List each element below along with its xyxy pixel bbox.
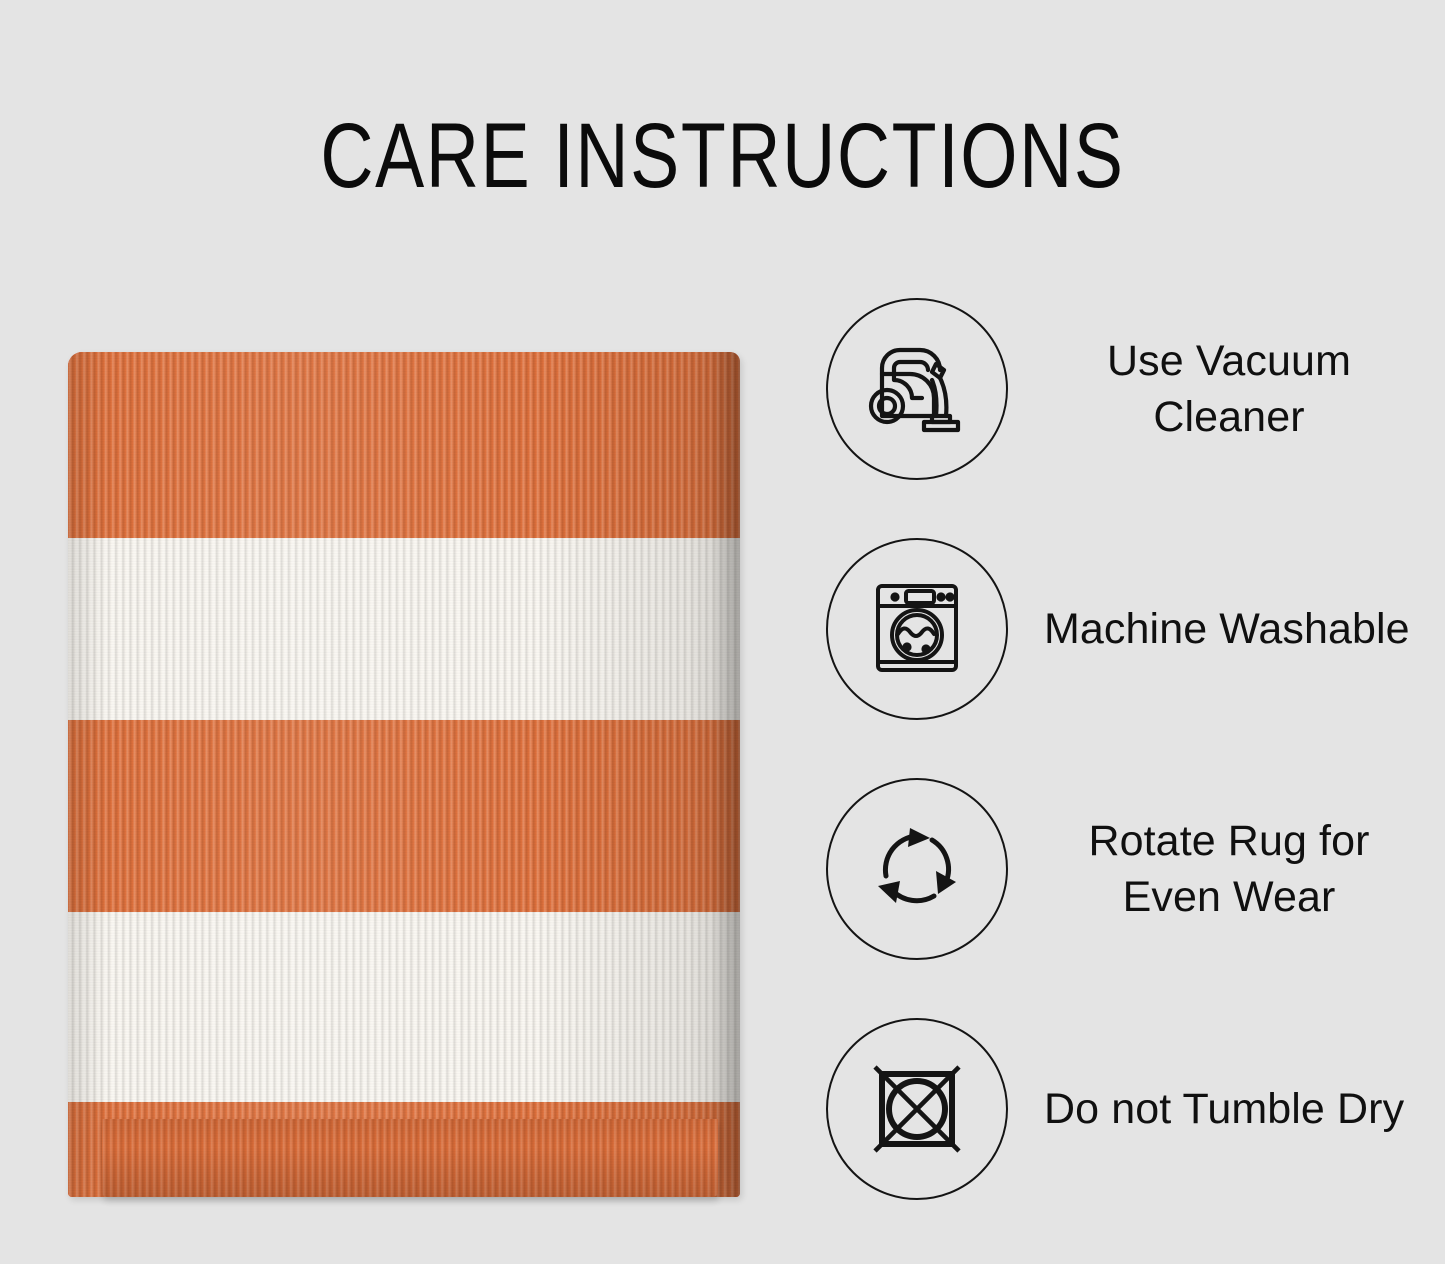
rug-stripe-orange-2 [68, 720, 740, 913]
rug-stripe-orange-1 [68, 352, 740, 538]
care-item-label: Use Vacuum Cleaner [1044, 333, 1414, 445]
rug-product-image [62, 344, 752, 1209]
vacuum-cleaner-icon [826, 298, 1008, 480]
do-not-tumble-dry-icon [826, 1018, 1008, 1200]
rug-stripe-white-1 [68, 538, 740, 720]
rug-stripe-white-2 [68, 912, 740, 1101]
care-item-machine-washable: Machine Washable [826, 536, 1426, 721]
page-title: CARE INSTRUCTIONS [145, 108, 1301, 204]
care-item-label: Rotate Rug for Even Wear [1044, 813, 1414, 925]
rug-roll-shading [102, 1119, 718, 1197]
care-instructions-list: Use Vacuum Cleaner [826, 296, 1426, 1201]
rotate-arrows-icon [826, 778, 1008, 960]
care-item-label: Machine Washable [1044, 601, 1410, 657]
care-item-use-vacuum-cleaner: Use Vacuum Cleaner [826, 296, 1426, 481]
rug-folded-stack [68, 352, 740, 1197]
care-item-do-not-tumble-dry: Do not Tumble Dry [826, 1016, 1426, 1201]
care-item-rotate-rug: Rotate Rug for Even Wear [826, 776, 1426, 961]
care-item-label: Do not Tumble Dry [1044, 1081, 1404, 1137]
washing-machine-icon [826, 538, 1008, 720]
rug-bottom-fold-roll [102, 1119, 718, 1197]
